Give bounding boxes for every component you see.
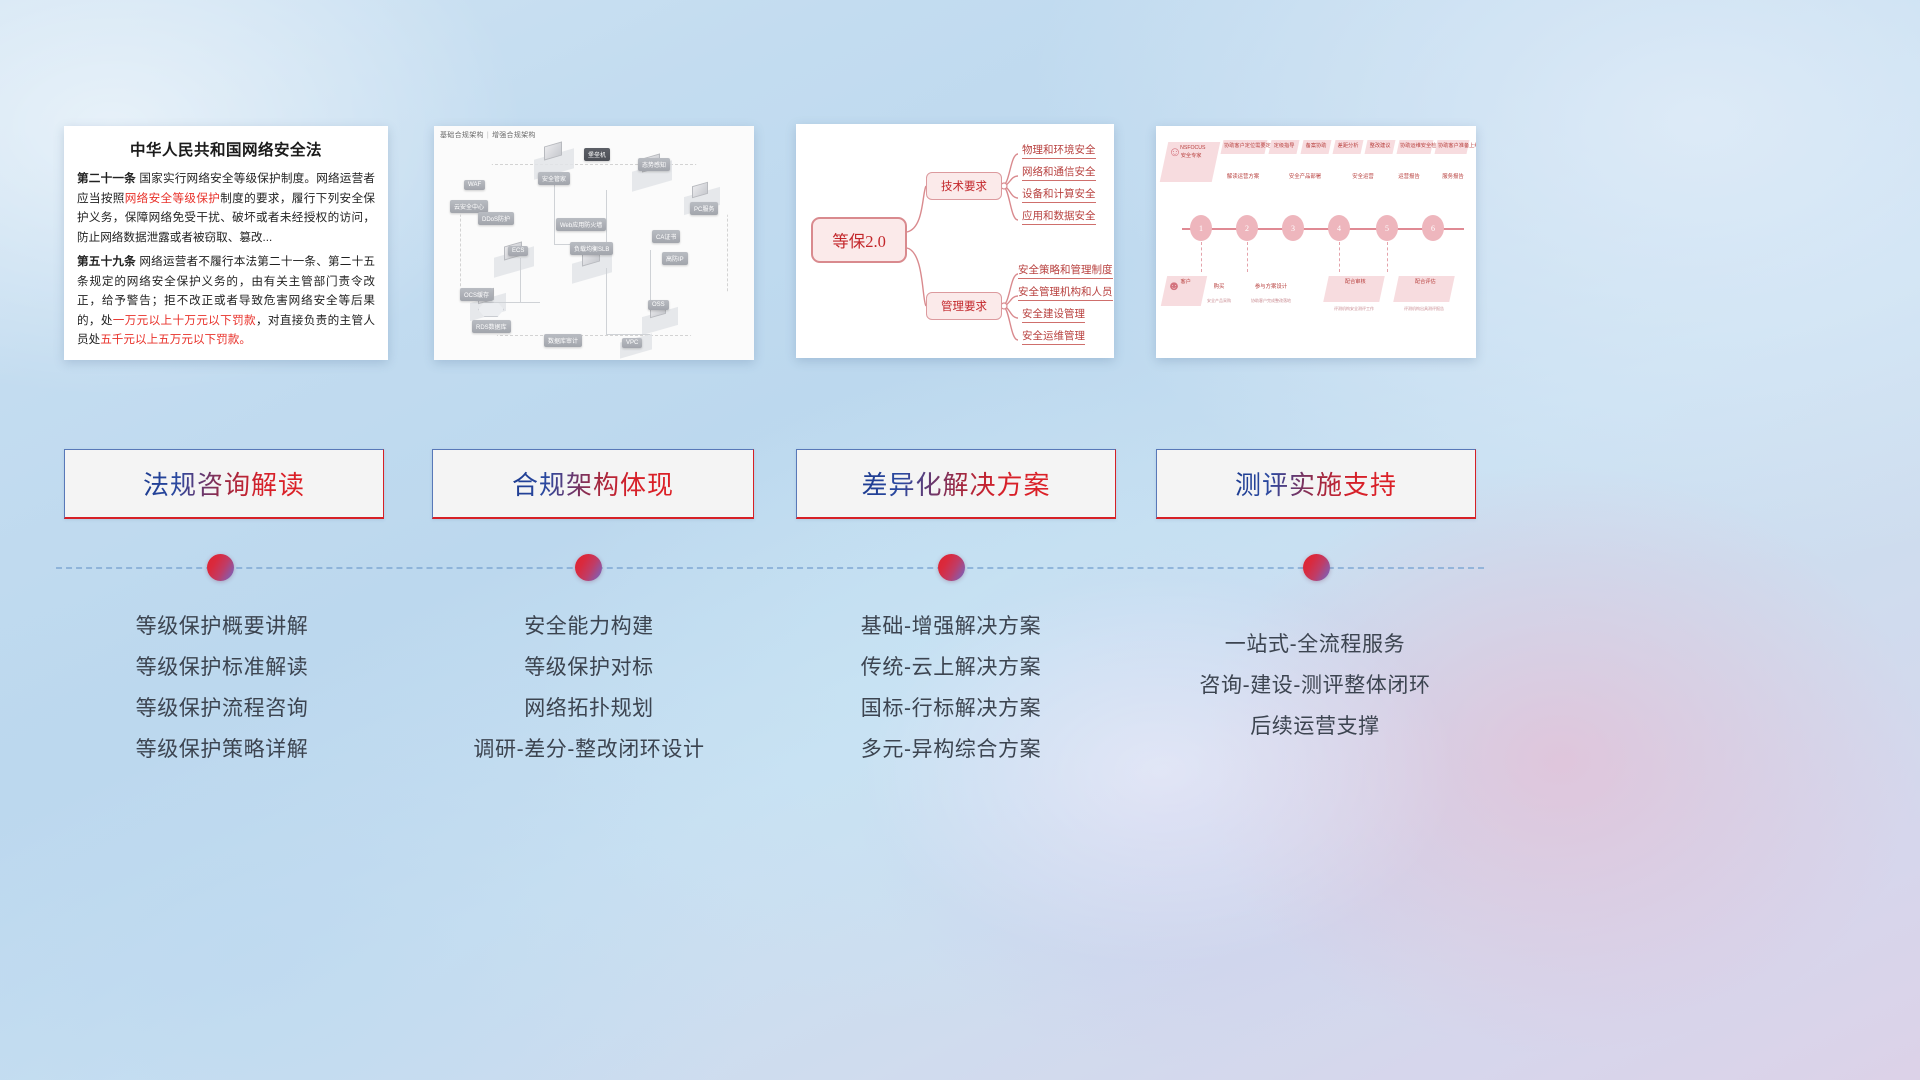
mindmap-leaf: 安全策略和管理制度 (1018, 262, 1113, 279)
mindmap-leaf: 安全管理机构和人员 (1018, 284, 1113, 301)
service-tag: 备案协助 (1301, 140, 1332, 154)
list-item: 咨询-建设-测评整体闭环 (1150, 665, 1480, 706)
list-item: 一站式-全流程服务 (1150, 624, 1480, 665)
architecture-node: OSS (648, 300, 669, 310)
architecture-node: ECS (508, 246, 528, 256)
feature-list-regulation: 等级保护概要讲解 等级保护标准解读 等级保护流程咨询 等级保护策略详解 (57, 606, 387, 770)
timeline-drop-line (1339, 242, 1340, 272)
timeline-dashed-line (56, 567, 1484, 569)
button-differentiated-solution[interactable]: 差异化解决方案 (796, 449, 1116, 519)
customer-action: 购买 (1202, 282, 1236, 290)
architecture-header: 基础合规架构|增强合规架构 (440, 130, 536, 140)
step-label: 安全运营 (1342, 172, 1384, 180)
law-paragraph: 第二十一条 国家实行网络安全等级保护制度。网络运营者应当按照网络安全等级保护制度… (77, 169, 375, 247)
law-body: 中华人民共和国网络安全法 第二十一条 国家实行网络安全等级保护制度。网络运营者应… (64, 126, 388, 360)
mindmap-leaf: 设备和计算安全 (1022, 186, 1096, 203)
brand-badge: ☺ NSFOCUS 安全专家 (1160, 142, 1221, 182)
brand-name: NSFOCUS (1169, 145, 1217, 153)
architecture-node: WAF (464, 180, 485, 190)
card-service-timeline[interactable]: ☺ NSFOCUS 安全专家 协助客户定位需要定级的系统 定级指导 备案协助 差… (1156, 126, 1476, 358)
mindmap-branch-technical[interactable]: 技术要求 (926, 172, 1002, 200)
architecture-node: PC服务 (690, 202, 718, 215)
step-label: 运营报告 (1388, 172, 1430, 180)
audit-label: 配合审核 (1329, 279, 1381, 287)
architecture-link (520, 258, 521, 302)
list-item: 调研-差分-整改闭环设计 (424, 729, 754, 770)
button-label: 差异化解决方案 (861, 465, 1050, 502)
architecture-node: 堡垒机 (584, 148, 610, 161)
law-paragraph: 第五十九条 网络运营者不履行本法第二十一条、第二十五条规定的网络安全保护义务的，… (77, 252, 375, 350)
customer-action: 参与方案设计 (1244, 282, 1298, 290)
step-badge[interactable]: 6 (1422, 215, 1444, 241)
button-label: 合规架构体现 (512, 465, 674, 502)
list-item: 安全能力构建 (424, 606, 754, 647)
architecture-node: CA证书 (652, 230, 680, 243)
card-architecture-diagram[interactable]: 基础合规架构|增强合规架构 (434, 126, 754, 360)
timeline-drop-line (1247, 242, 1248, 272)
architecture-node: DDoS防护 (478, 212, 514, 225)
timeline-drop-line (1201, 242, 1202, 272)
architecture-header-left: 基础合规架构 (440, 132, 484, 139)
timeline-drop-line (1387, 242, 1388, 272)
mindmap-branch-management[interactable]: 管理要求 (926, 292, 1002, 320)
mindmap-root-node[interactable]: 等保2.0 (811, 217, 907, 263)
timeline-dot[interactable] (938, 554, 965, 581)
law-article-number: 第五十九条 (77, 255, 136, 268)
customer-action-sub: 安全产品采购 (1196, 298, 1242, 304)
assess-label: 配合评估 (1399, 279, 1451, 287)
architecture-node: RDS数据库 (472, 320, 511, 333)
law-text-highlight: 一万元以上十万元以下罚款 (113, 314, 256, 327)
architecture-node: OCS缓存 (460, 288, 493, 301)
mindmap-leaf: 安全运维管理 (1022, 328, 1085, 345)
law-title: 中华人民共和国网络安全法 (77, 138, 375, 160)
card-row: 中华人民共和国网络安全法 第二十一条 国家实行网络安全等级保护制度。网络运营者应… (0, 0, 1920, 430)
assess-badge: 配合评估 (1393, 276, 1455, 302)
mindmap-leaf: 网络和通信安全 (1022, 164, 1096, 181)
architecture-link (606, 334, 650, 335)
service-tag: 整改建议 (1365, 140, 1396, 154)
architecture-link (554, 182, 555, 244)
button-assessment-support[interactable]: 测评实施支持 (1156, 449, 1476, 519)
mindmap-canvas: 等保2.0 技术要求 管理要求 物理和环境安全 网络和通信安全 设备和计算安全 … (796, 124, 1114, 358)
architecture-header-right: 增强合规架构 (492, 132, 536, 139)
timeline-dot[interactable] (575, 554, 602, 581)
architecture-node: 负载均衡SLB (570, 242, 613, 255)
button-regulation-consulting[interactable]: 法规咨询解读 (64, 449, 384, 519)
step-badge[interactable]: 3 (1282, 215, 1304, 241)
architecture-link (606, 268, 607, 334)
list-item: 等级保护标准解读 (57, 647, 387, 688)
timeline-dot[interactable] (1303, 554, 1330, 581)
feature-list-architecture: 安全能力构建 等级保护对标 网络拓扑规划 调研-差分-整改闭环设计 (424, 606, 754, 770)
service-tag: 协助客户定位需要定级的系统 (1221, 140, 1268, 154)
architecture-node: 态势感知 (638, 158, 670, 171)
architecture-node: VPC (622, 338, 642, 348)
list-item: 等级保护策略详解 (57, 729, 387, 770)
list-item: 后续运营支撑 (1150, 706, 1480, 747)
card-law-document[interactable]: 中华人民共和国网络安全法 第二十一条 国家实行网络安全等级保护制度。网络运营者应… (64, 126, 388, 360)
button-label: 测评实施支持 (1235, 465, 1397, 502)
list-item: 等级保护对标 (424, 647, 754, 688)
law-article-number: 第二十一条 (77, 172, 136, 185)
mindmap-leaf: 物理和环境安全 (1022, 142, 1096, 159)
law-text-highlight: 网络安全等级保护 (125, 192, 220, 205)
service-tag: 协助运维安全检查 (1397, 140, 1434, 154)
service-tag: 定级指导 (1269, 140, 1300, 154)
card-mindmap[interactable]: 等保2.0 技术要求 管理要求 物理和环境安全 网络和通信安全 设备和计算安全 … (796, 124, 1114, 358)
list-item: 网络拓扑规划 (424, 688, 754, 729)
architecture-node: 高防IP (662, 252, 688, 265)
list-item: 基础-增强解决方案 (786, 606, 1116, 647)
customer-action-sub: 协助客户完成整改落地 (1240, 298, 1302, 304)
mindmap-leaf: 安全建设管理 (1022, 306, 1085, 323)
architecture-node: 安全管家 (538, 172, 570, 185)
list-item: 国标-行标解决方案 (786, 688, 1116, 729)
service-tag: 协助客户准备上级安全监督检查 (1435, 140, 1470, 154)
feature-list-solution: 基础-增强解决方案 传统-云上解决方案 国标-行标解决方案 多元-异构综合方案 (786, 606, 1116, 770)
step-label: 安全产品部署 (1280, 172, 1330, 180)
architecture-node: Web应用防火墙 (556, 218, 606, 231)
list-item: 等级保护概要讲解 (57, 606, 387, 647)
step-label: 服务报告 (1432, 172, 1474, 180)
feature-list-assessment: 一站式-全流程服务 咨询-建设-测评整体闭环 后续运营支撑 (1150, 624, 1480, 747)
service-tag: 差距分析 (1333, 140, 1364, 154)
button-label: 法规咨询解读 (143, 465, 305, 502)
customer-label: 客户 (1168, 279, 1204, 287)
list-item: 等级保护流程咨询 (57, 688, 387, 729)
step-badge[interactable]: 5 (1376, 215, 1398, 241)
mindmap-leaf: 应用和数据安全 (1022, 208, 1096, 225)
timeline-dot[interactable] (207, 554, 234, 581)
list-item: 多元-异构综合方案 (786, 729, 1116, 770)
audit-badge: 配合审核 (1323, 276, 1385, 302)
law-text-highlight: 五千元以上五万元以下罚款。 (100, 333, 251, 346)
brand-role: 安全专家 (1167, 153, 1215, 161)
list-item: 传统-云上解决方案 (786, 647, 1116, 688)
architecture-node: 数据库审计 (544, 334, 582, 347)
architecture-canvas: 基础合规架构|增强合规架构 (434, 126, 754, 360)
step-label: 解读运营方案 (1218, 172, 1268, 180)
step-badge[interactable]: 1 (1190, 215, 1212, 241)
architecture-link (494, 302, 540, 303)
step-badge[interactable]: 2 (1236, 215, 1258, 241)
service-timeline-canvas: ☺ NSFOCUS 安全专家 协助客户定位需要定级的系统 定级指导 备案协助 差… (1156, 126, 1476, 358)
assess-sub: 评测机构出具测评报告 (1390, 306, 1458, 312)
audit-sub: 评测机构安全测评工作 (1320, 306, 1388, 312)
button-compliance-architecture[interactable]: 合规架构体现 (432, 449, 754, 519)
step-badge[interactable]: 4 (1328, 215, 1350, 241)
architecture-link (606, 190, 607, 244)
